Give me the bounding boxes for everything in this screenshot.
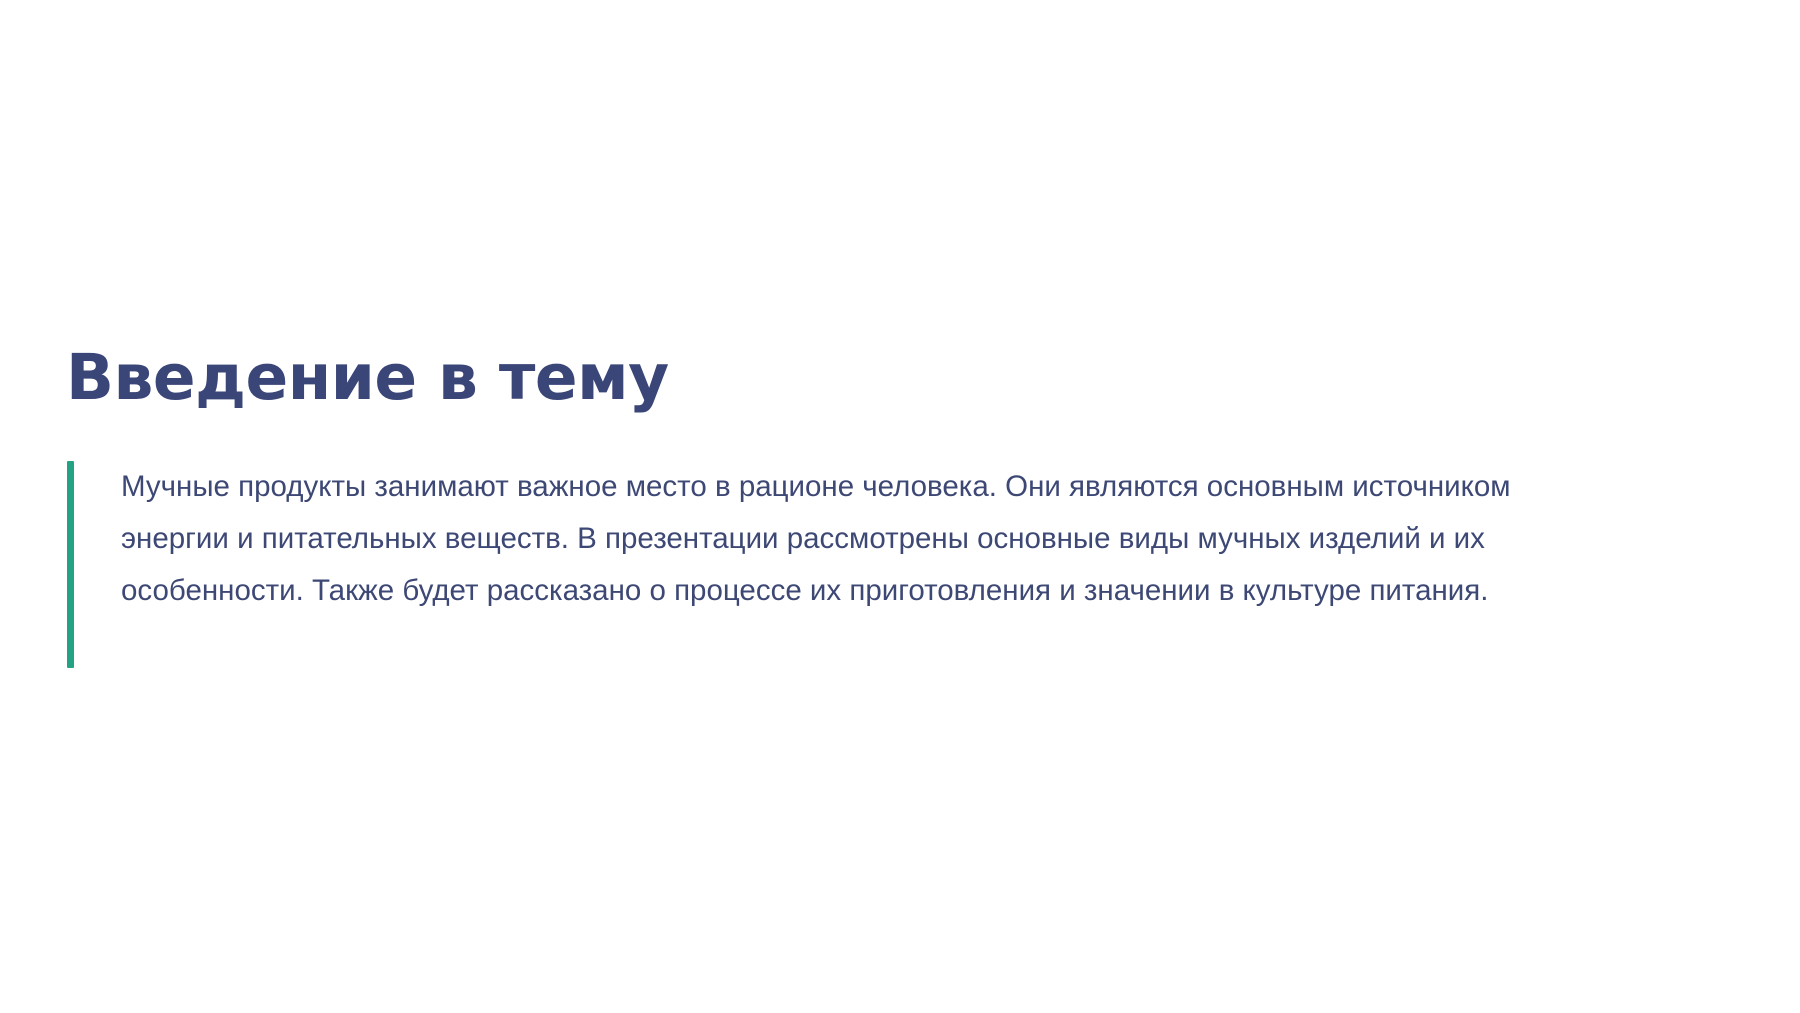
intro-text-block: Мучные продукты занимают важное место в … [67, 461, 1707, 668]
page-title: Введение в тему [66, 344, 669, 412]
intro-paragraph: Мучные продукты занимают важное место в … [74, 461, 1526, 668]
presentation-slide: Введение в тему Мучные продукты занимают… [0, 0, 1800, 1013]
accent-bar [67, 461, 74, 668]
